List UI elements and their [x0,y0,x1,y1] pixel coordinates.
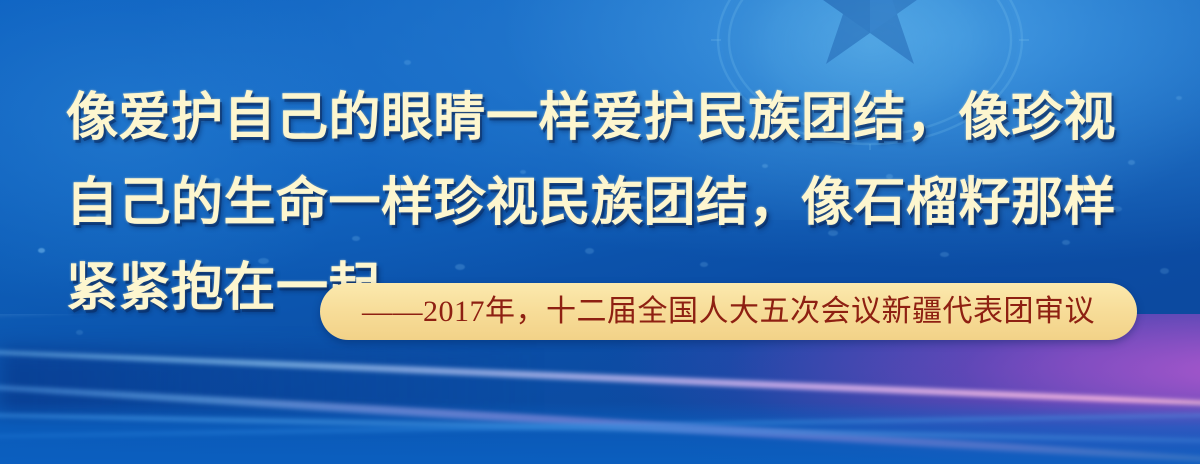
attribution-pill: ——2017年，十二届全国人大五次会议新疆代表团审议 [320,283,1137,340]
propaganda-banner: 像爱护自己的眼睛一样爱护民族团结，像珍视自己的生命一样珍视民族团结，像石榴籽那样… [0,0,1200,464]
attribution-text: ——2017年，十二届全国人大五次会议新疆代表团审议 [362,297,1095,327]
